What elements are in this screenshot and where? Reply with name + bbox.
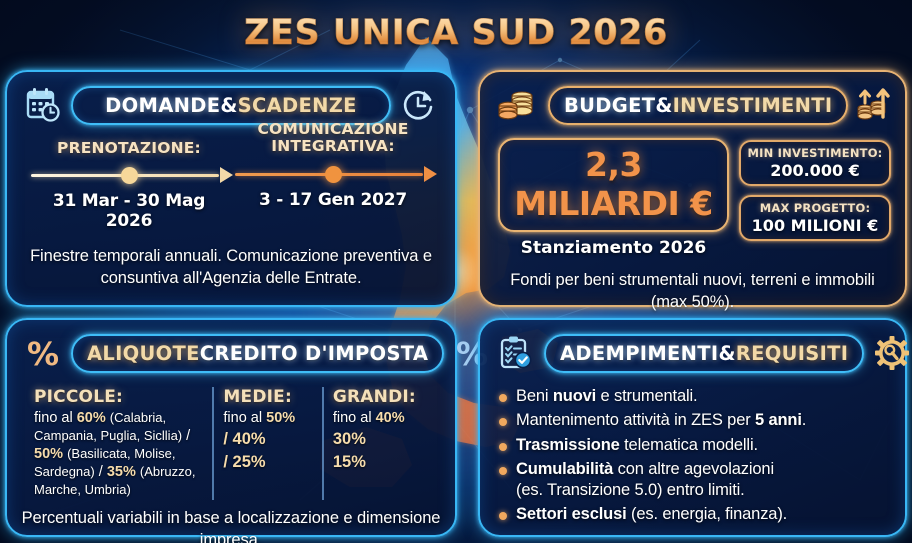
mini-card-max-progetto: MAX PROGETTO: 100 MILIONI € [739,195,891,241]
panel-budget-investimenti: BUDGET & INVESTIMENTI 2,3 [478,70,907,307]
budget-body: 2,3 MILIARDI € Stanziamento 2026 MIN INV… [494,138,891,258]
panel-domande-scadenze: DOMANDE & SCADENZE PRENOTAZIONE: 31 Mar … [5,70,457,307]
aliquote-column-medie: MEDIE: fino al 50% / 40% / 25% [212,387,321,500]
clipboard-check-icon [494,333,538,373]
panel-title-adempimenti: ADEMPIMENTI & REQUISITI [544,334,864,373]
aliquote-column-header: PICCOLE: [34,387,203,407]
panel-title-budget: BUDGET & INVESTIMENTI [548,86,848,125]
panel-title-domande: DOMANDE & SCADENZE [71,86,391,125]
aliquote-column-body: fino al 60% (Calabria, Campania, Puglia,… [34,410,203,500]
mini-card-value: 100 MILIONI € [747,216,883,235]
aliquote-column-header: GRANDI: [333,387,428,407]
timeline-date: 3 - 17 Gen 2027 [231,190,435,210]
list-item: Settori esclusi (es. energia, finanza). [516,504,891,525]
budget-amount-value: 2,3 [585,145,642,184]
aliquote-grandi-extra-2: 15% [333,451,428,474]
panel-title-part1: ADEMPIMENTI [560,342,718,365]
mini-card-title: MAX PROGETTO: [747,201,883,215]
budget-footnote: Fondi per beni strumentali nuovi, terren… [494,270,891,314]
timeline-bar [27,164,231,186]
budget-amount-block: 2,3 MILIARDI € Stanziamento 2026 [494,138,729,258]
budget-amount-box: 2,3 MILIARDI € [498,138,729,232]
aliquote-medie-extra-1: / 40% [223,428,312,451]
panel-title-aliquote: ALIQUOTE CREDITO D'IMPOSTA [71,334,444,373]
coins-stack-icon [494,85,542,125]
budget-amount-caption: Stanziamento 2026 [498,238,729,258]
aliquote-column-piccole: PICCOLE: fino al 60% (Calabria, Campania… [25,387,212,500]
clock-history-icon [397,85,441,125]
panel-title-part2: SCADENZE [238,94,357,117]
page-title: ZES UNICA SUD 2026 [0,13,912,53]
timeline-label: PRENOTAZIONE: [27,140,231,157]
panel-adempimenti-requisiti: ADEMPIMENTI & REQUISITI [478,318,907,537]
panel-title-amp: & [220,94,237,117]
requisiti-list: Beni nuovi e strumentali. Mantenimento a… [494,386,891,526]
panel-header: BUDGET & INVESTIMENTI [494,82,891,128]
mini-card-value: 200.000 € [747,161,883,180]
panel-title-part2: REQUISITI [736,342,849,365]
gear-wrench-icon [870,333,912,373]
timeline-date: 31 Mar - 30 Mag 2026 [27,191,231,231]
mini-card-min-investimento: MIN INVESTIMENTO: 200.000 € [739,140,891,186]
panel-title-part2: INVESTIMENTI [673,94,833,117]
budget-mini-cards: MIN INVESTIMENTO: 200.000 € MAX PROGETTO… [739,138,891,241]
list-item: Cumulabilità con altre agevolazioni [516,459,891,480]
aliquote-column-header: MEDIE: [223,387,312,407]
timeline-bar [231,163,435,185]
panel-title-amp: & [655,94,672,117]
panel-title-part2: CREDITO D'IMPOSTA [200,342,428,365]
timeline-label: COMUNICAZIONE INTEGRATIVA: [231,121,435,156]
list-item: Trasmissione telematica modelli. [516,435,891,456]
list-item: Beni nuovi e strumentali. [516,386,891,407]
panel-header: ADEMPIMENTI & REQUISITI [494,330,891,376]
list-item: Mantenimento attività in ZES per 5 anni. [516,410,891,431]
aliquote-column-grandi: GRANDI: fino al 40% 30% 15% [322,387,437,500]
timeline-item-prenotazione: PRENOTAZIONE: 31 Mar - 30 Mag 2026 [27,140,231,231]
panel-title-amp: & [718,342,735,365]
aliquote-medie-extra-2: / 25% [223,451,312,474]
timeline-item-comunicazione: COMUNICAZIONE INTEGRATIVA: 3 - 17 Gen 20… [231,140,435,231]
coins-growth-arrows-icon [854,85,898,125]
aliquote-medie-line1: fino al 50% [223,410,312,428]
mini-card-title: MIN INVESTIMENTO: [747,146,883,160]
domande-footnote: Finestre temporali annuali. Comunicazion… [21,246,441,290]
panel-title-part1: BUDGET [564,94,655,117]
panel-title-part1: ALIQUOTE [87,342,200,365]
panel-header: % ALIQUOTE CREDITO D'IMPOSTA % [21,330,441,376]
panel-title-part1: DOMANDE [105,94,220,117]
svg-text:%: % [27,335,59,371]
aliquote-grandi-extra-1: 30% [333,428,428,451]
timeline: PRENOTAZIONE: 31 Mar - 30 Mag 2026 COMUN… [21,140,441,231]
budget-amount-unit: MILIARDI € [514,184,713,223]
list-item-continuation: (es. Transizione 5.0) entro limiti. [516,480,891,501]
percent-icon: % [21,333,65,373]
aliquote-grandi-line1: fino al 40% [333,410,428,428]
aliquote-columns: PICCOLE: fino al 60% (Calabria, Campania… [21,387,441,500]
panel-aliquote-credito-imposta: % ALIQUOTE CREDITO D'IMPOSTA % PICCOLE: … [5,318,457,537]
aliquote-footnote: Percentuali variabili in base a localizz… [21,508,441,543]
calendar-clock-icon [21,85,65,125]
